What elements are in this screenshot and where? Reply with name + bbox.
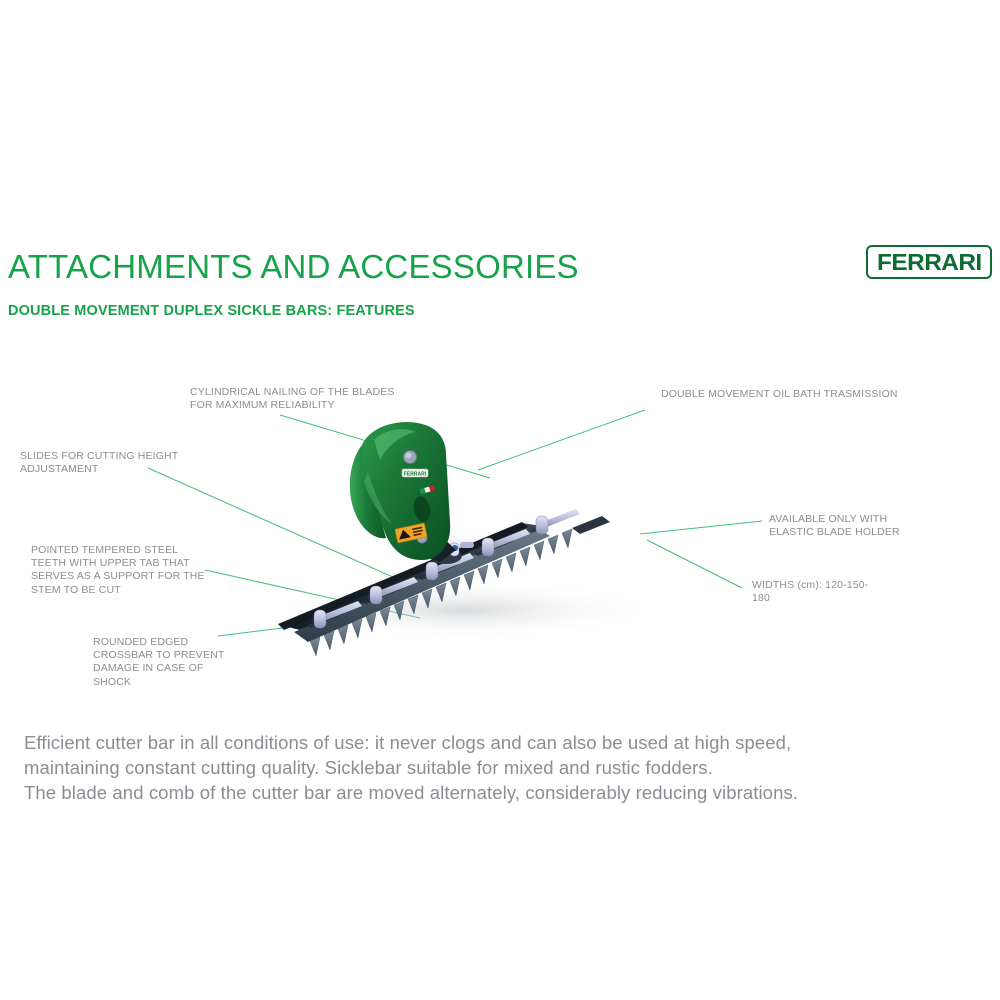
slide-canvas: ATTACHMENTS AND ACCESSORIES DOUBLE MOVEM… bbox=[0, 0, 1000, 1000]
callout-oil-bath-transmission: DOUBLE MOVEMENT OIL BATH TRASMISSION bbox=[661, 388, 911, 401]
product-illustration: FERRARI bbox=[250, 410, 710, 660]
ferrari-logo-wordmark: FERRARI bbox=[877, 251, 982, 274]
callout-pointed-tempered-teeth: POINTED TEMPERED STEEL TEETH WITH UPPER … bbox=[31, 544, 231, 597]
callout-elastic-blade-holder: AVAILABLE ONLY WITH ELASTIC BLADE HOLDER bbox=[769, 513, 959, 539]
housing-nameplate: FERRARI bbox=[402, 469, 428, 478]
callout-widths: WIDTHS (cm): 120-150- 180 bbox=[752, 579, 882, 605]
ferrari-logo: FERRARI bbox=[866, 245, 992, 279]
bar-end-cap bbox=[572, 516, 610, 534]
callout-rounded-edged-crossbar: ROUNDED EDGED CROSSBAR TO PREVENT DAMAGE… bbox=[93, 636, 243, 689]
blade-holder bbox=[536, 509, 580, 534]
callout-cylindrical-nailing: CYLINDRICAL NAILING OF THE BLADES FOR MA… bbox=[190, 386, 410, 412]
svg-text:FERRARI: FERRARI bbox=[404, 472, 427, 478]
page-subtitle: DOUBLE MOVEMENT DUPLEX SICKLE BARS: FEAT… bbox=[8, 303, 415, 319]
callout-cutting-height-slides: SLIDES FOR CUTTING HEIGHT ADJUSTAMENT bbox=[20, 450, 205, 476]
page-title: ATTACHMENTS AND ACCESSORIES bbox=[8, 248, 579, 286]
body-paragraph: Efficient cutter bar in all conditions o… bbox=[24, 730, 964, 805]
gearbox-housing: FERRARI bbox=[350, 422, 456, 562]
